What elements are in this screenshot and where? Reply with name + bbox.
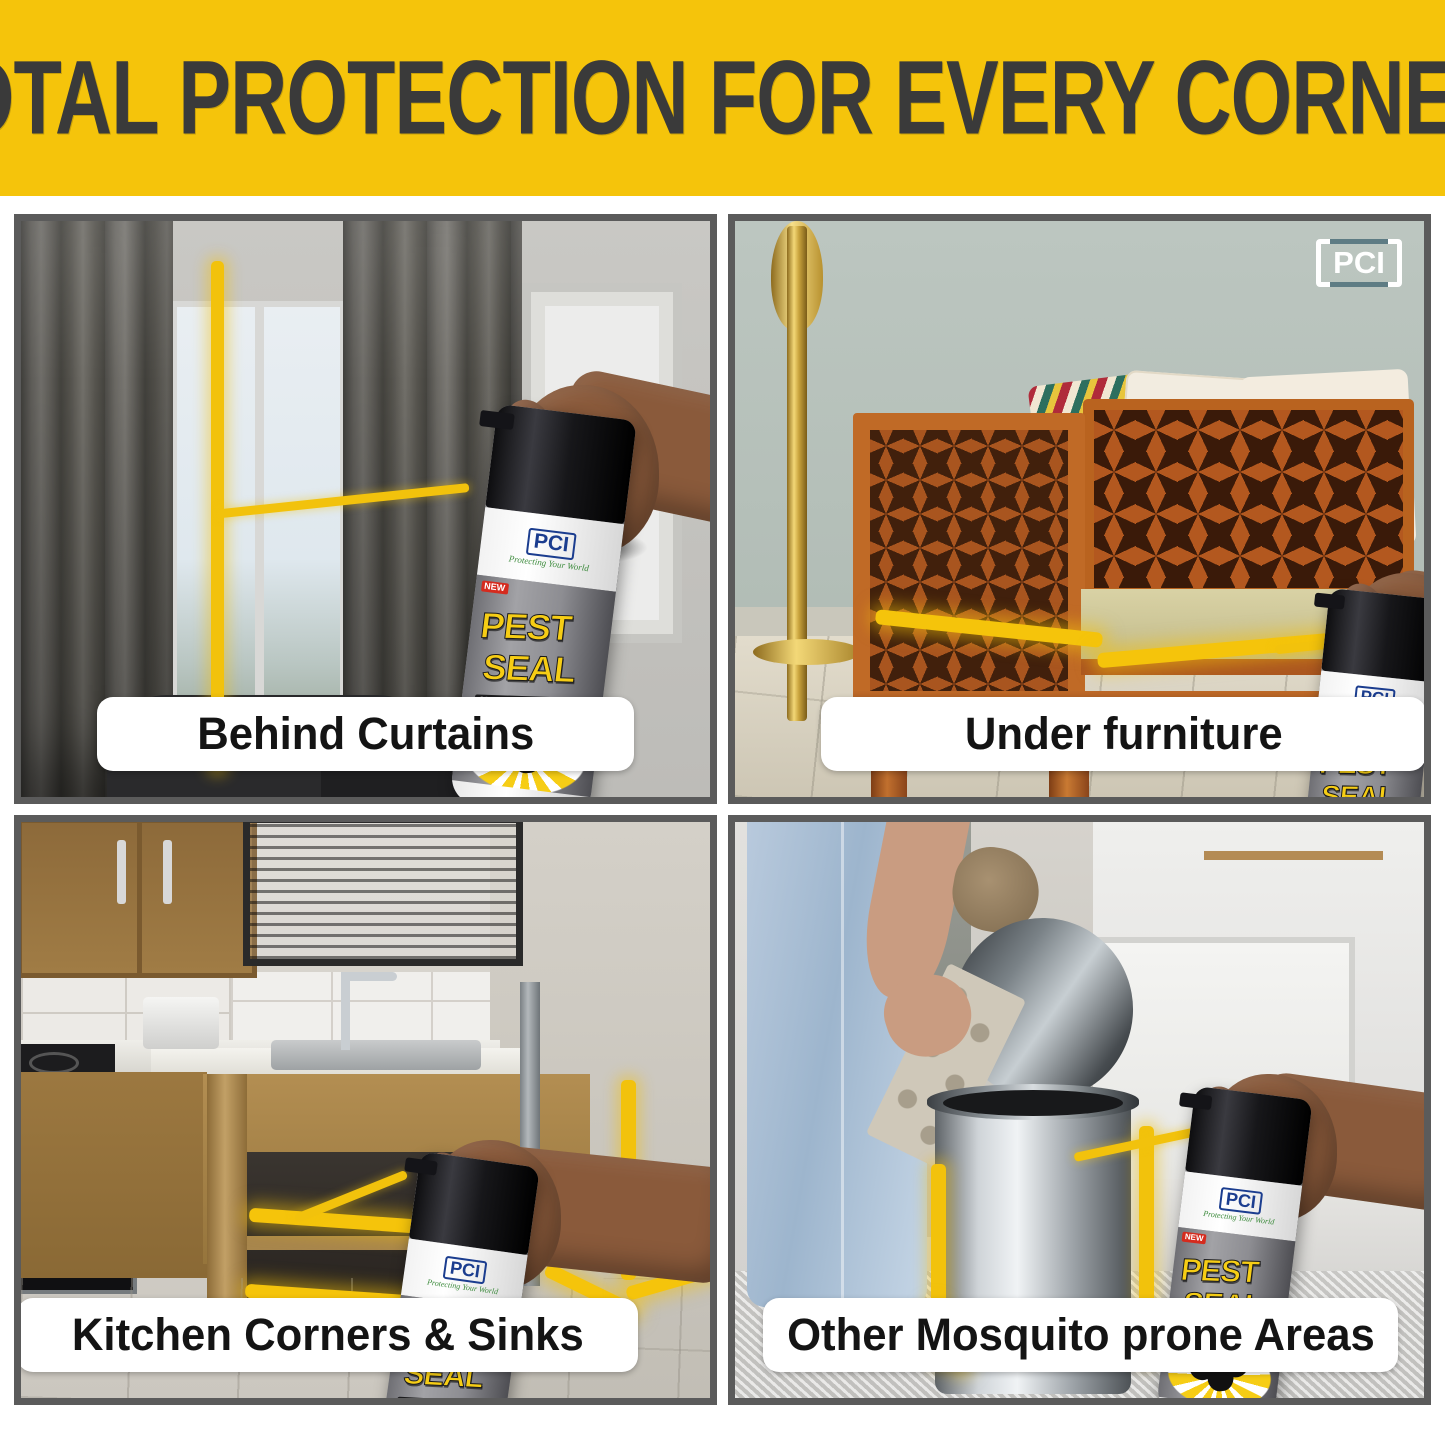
panel-grid: PCI Protecting Your World NEW PEST SEAL … (14, 214, 1431, 1431)
infographic-page: TOTAL PROTECTION FOR EVERY CORNER! (0, 0, 1445, 1445)
kitchen-sink (271, 1040, 481, 1070)
can-subtitle: MOSQUITO SPRAY (396, 1396, 494, 1398)
caption-mosquito-prone-areas: Other Mosquito prone Areas (763, 1298, 1398, 1372)
window-with-blinds (243, 822, 523, 966)
floor-lamp-base (753, 639, 861, 665)
cabinet-handle-right (163, 840, 172, 904)
panel-under-furniture[interactable]: PCI Protecting Your World NEW PEST SEAL … (728, 214, 1431, 804)
panel-kitchen-corners[interactable]: PCI Protecting Your World NEW PEST SEAL … (14, 815, 717, 1405)
upper-cabinet (21, 822, 257, 978)
cabinet-post (207, 1074, 247, 1306)
faucet (341, 972, 350, 1050)
can-name-line2: SEAL (480, 646, 577, 691)
caption-text: Under furniture (965, 708, 1283, 760)
cabinet-handle-left (117, 840, 126, 904)
page-title: TOTAL PROTECTION FOR EVERY CORNER! (0, 38, 1445, 159)
caption-behind-curtains: Behind Curtains (97, 697, 634, 771)
bench-backrest (1083, 399, 1414, 599)
toaster (143, 997, 219, 1049)
caption-text: Kitchen Corners & Sinks (72, 1309, 584, 1361)
caption-kitchen-corners: Kitchen Corners & Sinks (17, 1298, 638, 1372)
can-name-line2: SEAL (1320, 781, 1397, 797)
can-new-badge: NEW (481, 580, 509, 594)
wooden-shelf (1204, 851, 1383, 860)
panel-mosquito-prone-areas[interactable]: PCI Protecting Your World NEW PEST SEAL … (728, 815, 1431, 1405)
can-new-badge: NEW (1181, 1231, 1207, 1244)
caption-text: Behind Curtains (197, 708, 534, 760)
can-name-line1: PEST (1179, 1252, 1261, 1290)
pci-logo: PCI (1316, 239, 1402, 287)
caption-under-furniture: Under furniture (821, 697, 1426, 771)
can-nozzle (1314, 593, 1345, 610)
pci-logo-text: PCI (1316, 239, 1402, 287)
lower-cabinet (21, 1072, 207, 1278)
header-banner: TOTAL PROTECTION FOR EVERY CORNER! (0, 0, 1445, 196)
panel-behind-curtains[interactable]: PCI Protecting Your World NEW PEST SEAL … (14, 214, 717, 804)
bin-opening (943, 1090, 1123, 1116)
can-name-line1: PEST (478, 605, 573, 650)
caption-text: Other Mosquito prone Areas (787, 1309, 1375, 1361)
